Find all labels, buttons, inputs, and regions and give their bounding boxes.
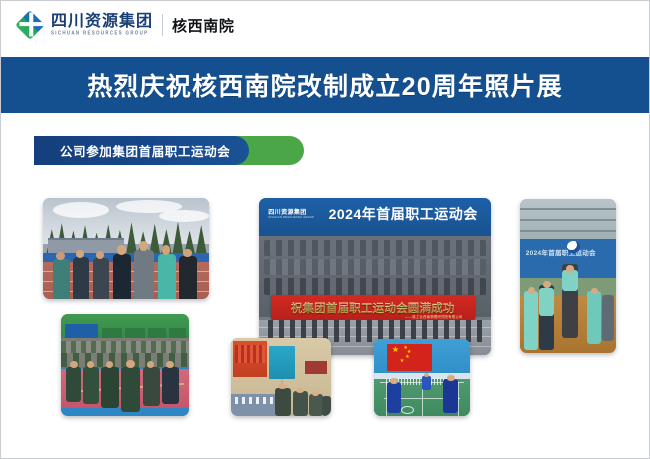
photo-indoor-hall[interactable] xyxy=(231,338,331,416)
congratulation-banner: 祝集团首届职工运动会圆满成功 ——核工业西南物理研究院有限公司 xyxy=(271,295,475,320)
photo-group-track[interactable] xyxy=(43,198,209,299)
section-header: 公司参加集团首届职工运动会 xyxy=(34,136,284,165)
venue-logo-en: SICHUAN RESOURCES GROUP xyxy=(268,216,314,219)
section-header-blue-pill: 公司参加集团首届职工运动会 xyxy=(34,136,249,165)
section-header-label: 公司参加集团首届职工运动会 xyxy=(60,141,230,160)
company-name-cn: 四川资源集团 xyxy=(51,14,153,31)
congratulation-banner-subtext: ——核工业西南物理研究院有限公司 xyxy=(405,314,462,319)
photo-volleyball[interactable]: 2024年首届职工运动会 xyxy=(520,199,616,353)
photo-tug-of-war[interactable] xyxy=(61,314,189,416)
venue-logo-cn: 四川资源集团 xyxy=(268,207,314,216)
division-name: 核西南院 xyxy=(172,15,234,36)
venue-logo: 四川资源集团 SICHUAN RESOURCES GROUP xyxy=(268,205,319,221)
china-flag-display: ★ ★ ★ ★ ★ xyxy=(387,344,431,372)
brand-name-group: 四川资源集团 SICHUAN RESOURCES GROUP xyxy=(51,14,153,37)
title-banner: 热烈庆祝核西南院改制成立20周年照片展 xyxy=(1,57,649,113)
sichuan-resources-group-diamond-logo xyxy=(15,10,45,40)
brand-logo-block: 四川资源集团 SICHUAN RESOURCES GROUP 核西南院 xyxy=(15,10,234,40)
photo-badminton[interactable]: ★ ★ ★ ★ ★ xyxy=(374,339,470,416)
page-title: 热烈庆祝核西南院改制成立20周年照片展 xyxy=(87,67,563,103)
ceremony-banner-text: 2024年首届职工运动会 xyxy=(329,203,482,223)
photo-opening-ceremony[interactable]: 四川资源集团 SICHUAN RESOURCES GROUP 2024年首届职工… xyxy=(259,198,491,355)
slide-page: 四川资源集团 SICHUAN RESOURCES GROUP 核西南院 热烈庆祝… xyxy=(0,0,650,459)
logo-divider xyxy=(162,14,163,36)
page-header: 四川资源集团 SICHUAN RESOURCES GROUP 核西南院 xyxy=(1,1,649,57)
company-name-en: SICHUAN RESOURCES GROUP xyxy=(51,31,153,37)
